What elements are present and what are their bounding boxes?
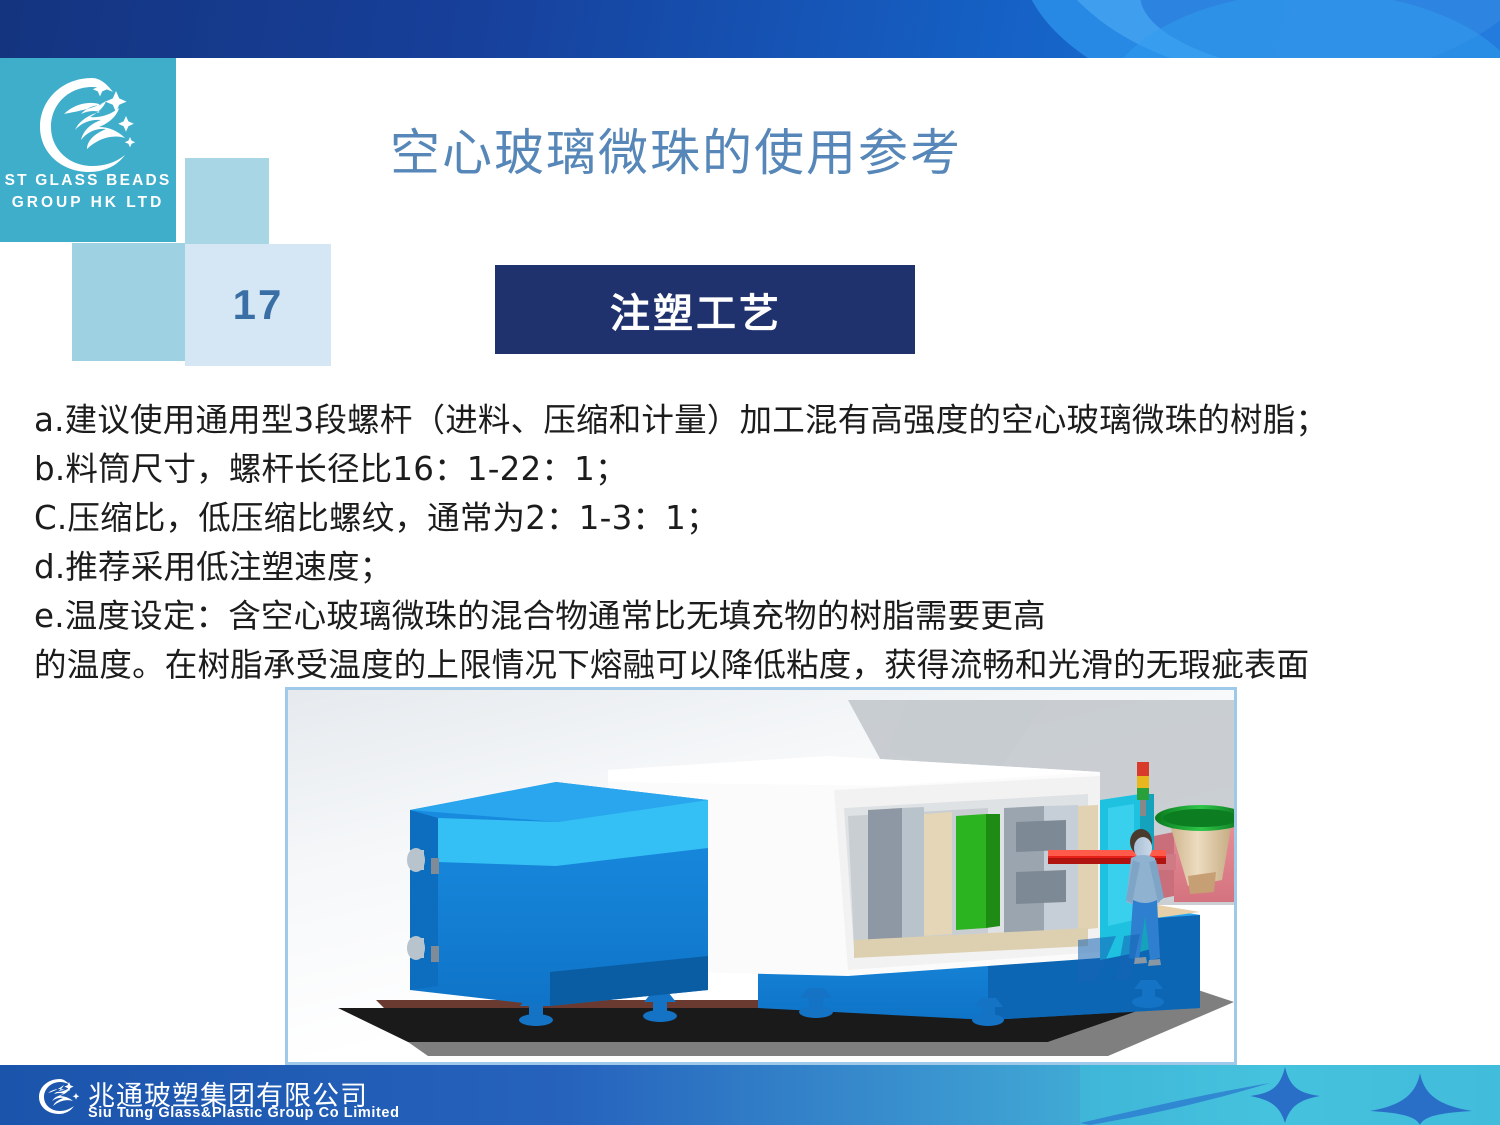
brand-logo-text: ST GLASS BEADS GROUP HK LTD	[0, 170, 176, 214]
body-text-block: a.建议使用通用型3段螺杆（进料、压缩和计量）加工混有高强度的空心玻璃微珠的树脂…	[34, 396, 1484, 690]
injection-molding-machine-image	[285, 687, 1237, 1065]
body-line-b: b.料筒尺寸，螺杆长径比16：1-22：1；	[34, 445, 1484, 494]
slide-number: 17	[185, 244, 331, 366]
decor-square-top	[185, 158, 269, 244]
body-line-a: a.建议使用通用型3段螺杆（进料、压缩和计量）加工混有高强度的空心玻璃微珠的树脂…	[34, 396, 1484, 445]
footer-bar: 兆通玻塑集团有限公司 Siu Tung Glass&Plastic Group …	[0, 1065, 1500, 1125]
logo-line-1: ST GLASS BEADS	[0, 170, 176, 192]
footer-crescent-sparkle-logo-icon	[36, 1077, 80, 1115]
footer-company-en: Siu Tung Glass&Plastic Group Co Limited	[88, 1105, 400, 1121]
section-header-label: 注塑工艺	[610, 281, 782, 339]
machine-render	[288, 690, 1234, 1062]
body-line-d: d.推荐采用低注塑速度；	[34, 543, 1484, 592]
decor-square-left	[72, 243, 185, 361]
body-line-c: C.压缩比，低压缩比螺纹，通常为2：1-3：1；	[34, 494, 1484, 543]
body-line-e-cont: 的温度。在树脂承受温度的上限情况下熔融可以降低粘度，获得流畅和光滑的无瑕疵表面	[34, 641, 1484, 690]
brand-logo-block: ST GLASS BEADS GROUP HK LTD	[0, 58, 176, 242]
section-header-box: 注塑工艺	[495, 265, 915, 354]
footer-teal-strip	[1080, 1065, 1500, 1125]
top-banner	[0, 0, 1500, 58]
body-line-e: e.温度设定：含空心玻璃微珠的混合物通常比无填充物的树脂需要更高	[34, 592, 1484, 641]
page-title: 空心玻璃微珠的使用参考	[390, 113, 1150, 185]
crescent-sparkle-logo-icon	[30, 74, 148, 174]
logo-line-2: GROUP HK LTD	[0, 192, 176, 214]
